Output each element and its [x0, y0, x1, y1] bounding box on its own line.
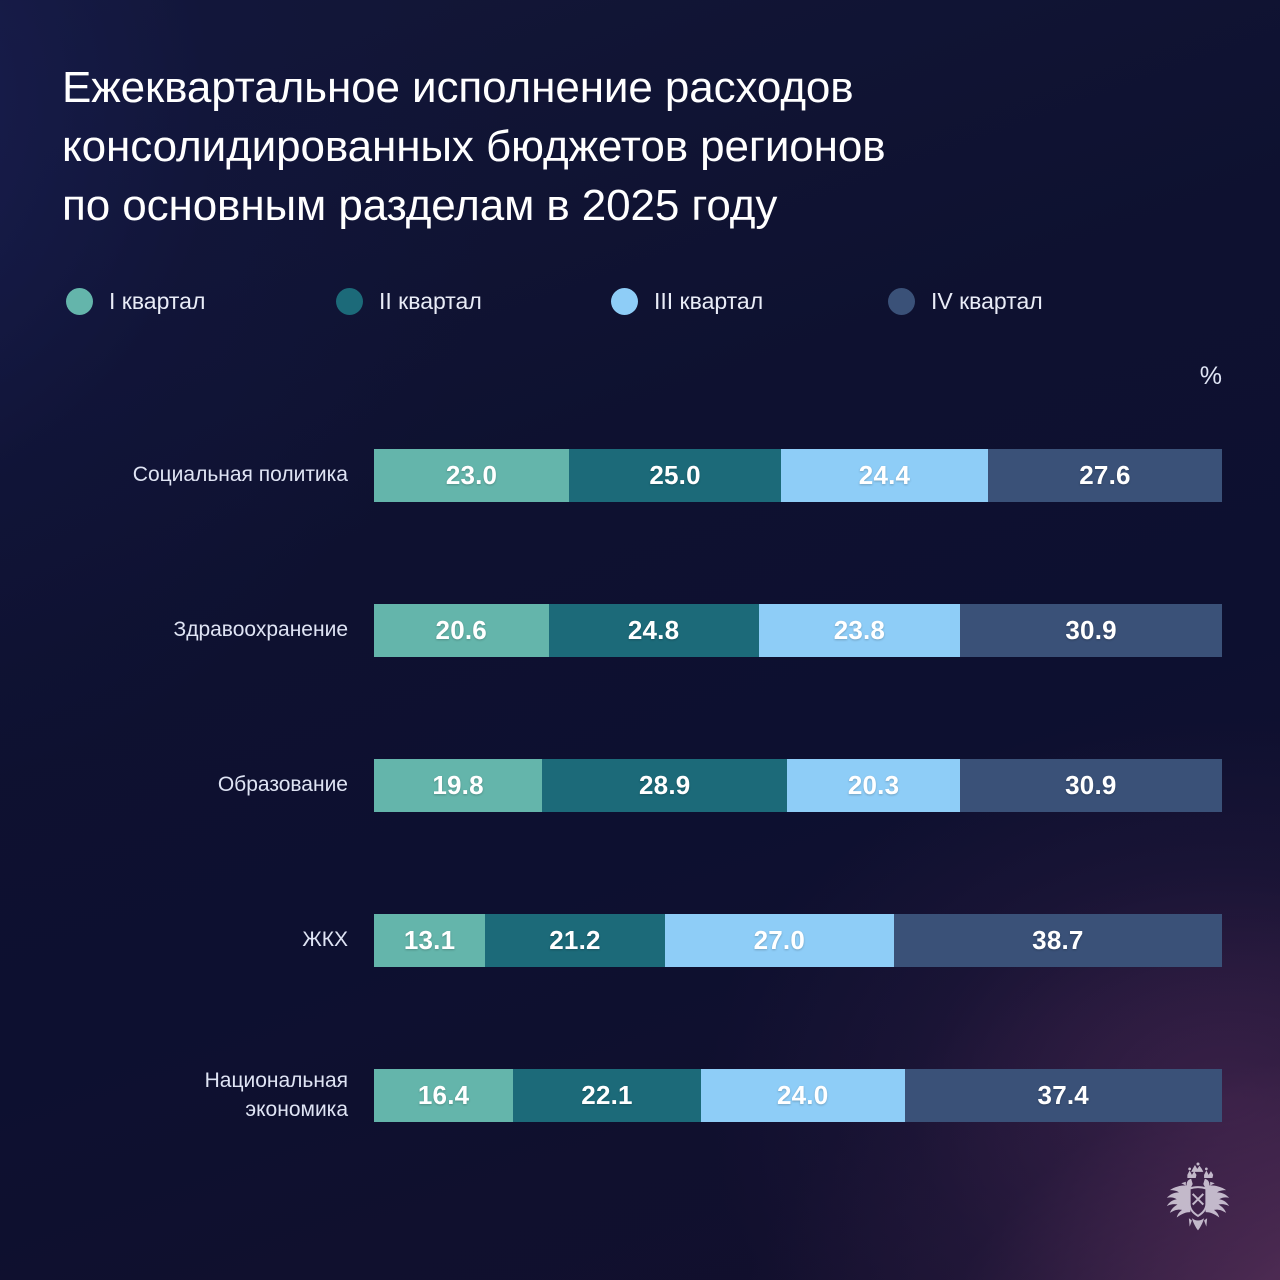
bar-segment-value: 25.0	[649, 460, 700, 491]
chart-row: ЖКХ13.121.227.038.7	[0, 889, 1280, 992]
bar-segment-value: 20.6	[436, 615, 487, 646]
bar-segment: 13.1	[374, 914, 485, 967]
legend-label-q3: III квартал	[654, 288, 763, 315]
chart-row-label: Национальная экономика	[60, 1044, 348, 1147]
bar-segment: 24.4	[781, 449, 988, 502]
chart-legend: I квартал II квартал III квартал IV квар…	[66, 284, 1186, 318]
bar-segment: 23.8	[759, 604, 961, 657]
legend-label-q4: IV квартал	[931, 288, 1043, 315]
bar-segment-value: 19.8	[432, 770, 483, 801]
bar-segment-value: 27.6	[1079, 460, 1130, 491]
stacked-bar: 19.828.920.330.9	[374, 759, 1222, 812]
bar-segment: 24.0	[701, 1069, 905, 1122]
legend-item-q1: I квартал	[66, 284, 205, 318]
bar-segment: 37.4	[905, 1069, 1222, 1122]
stacked-bar: 20.624.823.830.9	[374, 604, 1222, 657]
chart-row: Образование19.828.920.330.9	[0, 734, 1280, 837]
bar-segment-value: 23.0	[446, 460, 497, 491]
legend-item-q4: IV квартал	[888, 284, 1043, 318]
bar-segment: 20.6	[374, 604, 549, 657]
bar-segment: 16.4	[374, 1069, 513, 1122]
chart-row: Национальная экономика16.422.124.037.4	[0, 1044, 1280, 1147]
bar-segment: 38.7	[894, 914, 1222, 967]
bar-segment-value: 13.1	[404, 925, 455, 956]
bar-segment-value: 28.9	[639, 770, 690, 801]
legend-item-q3: III квартал	[611, 284, 763, 318]
bar-segment-value: 30.9	[1065, 615, 1116, 646]
bar-segment: 24.8	[549, 604, 759, 657]
bar-segment-value: 30.9	[1065, 770, 1116, 801]
chart-row: Социальная политика23.025.024.427.6	[0, 424, 1280, 527]
axis-unit-label: %	[1200, 362, 1222, 391]
bar-segment-value: 20.3	[848, 770, 899, 801]
bar-segment: 27.0	[665, 914, 894, 967]
bar-segment-value: 22.1	[581, 1080, 632, 1111]
chart-row-label: Социальная политика	[60, 424, 348, 527]
legend-swatch-q1-icon	[66, 288, 93, 315]
bar-segment: 20.3	[787, 759, 959, 812]
stacked-bar: 23.025.024.427.6	[374, 449, 1222, 502]
legend-swatch-q3-icon	[611, 288, 638, 315]
bar-segment: 22.1	[513, 1069, 701, 1122]
stacked-bar-chart: Социальная политика23.025.024.427.6Здрав…	[0, 424, 1280, 1147]
bar-segment-value: 27.0	[754, 925, 805, 956]
legend-label-q2: II квартал	[379, 288, 482, 315]
chart-row: Здравоохранение20.624.823.830.9	[0, 579, 1280, 682]
legend-item-q2: II квартал	[336, 284, 482, 318]
russian-double-headed-eagle-icon	[1160, 1162, 1236, 1238]
legend-label-q1: I квартал	[109, 288, 205, 315]
bar-segment: 21.2	[485, 914, 665, 967]
bar-segment: 28.9	[542, 759, 787, 812]
chart-row-label: ЖКХ	[60, 889, 348, 992]
bar-segment: 19.8	[374, 759, 542, 812]
bar-segment-value: 38.7	[1032, 925, 1083, 956]
chart-row-label: Здравоохранение	[60, 579, 348, 682]
bar-segment-value: 23.8	[834, 615, 885, 646]
infographic-canvas: Ежеквартальное исполнение расходов консо…	[0, 0, 1280, 1280]
chart-row-label: Образование	[60, 734, 348, 837]
bar-segment-value: 24.0	[777, 1080, 828, 1111]
stacked-bar: 13.121.227.038.7	[374, 914, 1222, 967]
bar-segment-value: 37.4	[1038, 1080, 1089, 1111]
page-title: Ежеквартальное исполнение расходов консо…	[62, 59, 1192, 235]
bar-segment: 25.0	[569, 449, 781, 502]
bar-segment-value: 24.8	[628, 615, 679, 646]
legend-swatch-q2-icon	[336, 288, 363, 315]
bar-segment: 27.6	[988, 449, 1222, 502]
bar-segment-value: 24.4	[859, 460, 910, 491]
bar-segment: 30.9	[960, 759, 1222, 812]
bar-segment-value: 16.4	[418, 1080, 469, 1111]
bar-segment: 23.0	[374, 449, 569, 502]
legend-swatch-q4-icon	[888, 288, 915, 315]
bar-segment-value: 21.2	[549, 925, 600, 956]
stacked-bar: 16.422.124.037.4	[374, 1069, 1222, 1122]
bar-segment: 30.9	[960, 604, 1222, 657]
